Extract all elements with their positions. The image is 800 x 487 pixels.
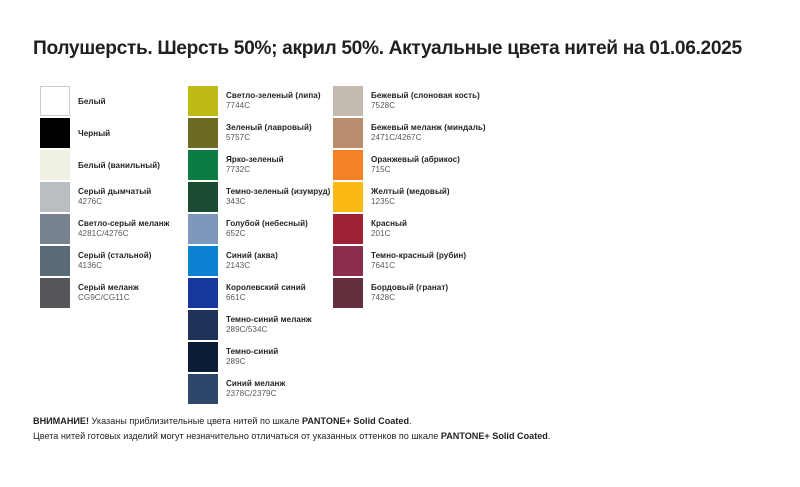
color-swatch	[188, 310, 218, 340]
color-name: Белый	[78, 96, 106, 107]
color-swatch	[40, 182, 70, 212]
swatch-labels: Оранжевый (абрикос)715C	[371, 150, 460, 180]
swatch-labels: Светло-зеленый (липа)7744C	[226, 86, 321, 116]
color-swatch	[40, 246, 70, 276]
color-name: Темно-зеленый (изумруд)	[226, 187, 330, 198]
color-name: Королевский синий	[226, 283, 306, 294]
color-name: Оранжевый (абрикос)	[371, 155, 460, 166]
color-name: Бордовый (гранат)	[371, 283, 448, 294]
swatch-labels: Серый (стальной)4136C	[78, 246, 152, 276]
color-name: Темно-красный (рубин)	[371, 251, 466, 262]
color-name: Зеленый (лавровый)	[226, 123, 312, 134]
color-name: Черный	[78, 128, 110, 139]
color-swatch	[188, 150, 218, 180]
swatch-labels: Белый	[78, 86, 106, 116]
swatch-labels: Светло-серый меланж4281C/4276C	[78, 214, 169, 244]
disclaimer-line-1-text: Указаны приблизительные цвета нитей по ш…	[89, 416, 302, 426]
swatch-labels: Синий (аква)2143C	[226, 246, 278, 276]
pantone-code: 7641C	[371, 261, 466, 272]
color-swatch	[40, 278, 70, 308]
color-swatch	[333, 150, 363, 180]
pantone-code: 289C	[226, 357, 278, 368]
swatch-labels: Темно-красный (рубин)7641C	[371, 246, 466, 276]
disclaimer-line-2-text: Цвета нитей готовых изделий могут незнач…	[33, 431, 441, 441]
pantone-scale-name-1: PANTONE+ Solid Coated	[302, 416, 409, 426]
color-swatch	[40, 150, 70, 180]
color-name: Бежевый меланж (миндаль)	[371, 123, 486, 134]
pantone-code: 715C	[371, 165, 460, 176]
pantone-code: 2471C/4267C	[371, 133, 486, 144]
pantone-code: 1235C	[371, 197, 450, 208]
color-name: Синий (аква)	[226, 251, 278, 262]
swatch-labels: Красный201C	[371, 214, 407, 244]
color-name: Синий меланж	[226, 379, 285, 390]
color-swatch	[40, 118, 70, 148]
swatch-labels: Белый (ванильный)	[78, 150, 160, 180]
pantone-code: 7428C	[371, 293, 448, 304]
swatch-labels: Темно-синий меланж289C/534C	[226, 310, 312, 340]
disclaimer-line-1: ВНИМАНИЕ! Указаны приблизительные цвета …	[33, 414, 768, 429]
color-swatch	[333, 182, 363, 212]
color-name: Бежевый (слоновая кость)	[371, 91, 480, 102]
pantone-code: 4136C	[78, 261, 152, 272]
pantone-code: 7744C	[226, 101, 321, 112]
pantone-code: 2378C/2379C	[226, 389, 285, 400]
swatch-labels: Желтый (медовый)1235C	[371, 182, 450, 212]
color-name: Голубой (небесный)	[226, 219, 308, 230]
color-swatch	[333, 214, 363, 244]
color-name: Красный	[371, 219, 407, 230]
swatch-labels: Бордовый (гранат)7428C	[371, 278, 448, 308]
color-swatch	[333, 246, 363, 276]
swatch-labels: Темно-зеленый (изумруд)343C	[226, 182, 330, 212]
pantone-scale-name-2: PANTONE+ Solid Coated	[441, 431, 548, 441]
swatch-labels: Бежевый (слоновая кость)7528C	[371, 86, 480, 116]
pantone-code: 652C	[226, 229, 308, 240]
swatch-labels: Серый дымчатый4276C	[78, 182, 151, 212]
color-swatch	[188, 278, 218, 308]
color-swatch	[333, 86, 363, 116]
pantone-code: 201C	[371, 229, 407, 240]
swatch-labels: Зеленый (лавровый)5757C	[226, 118, 312, 148]
color-chart-page: Полушерсть. Шерсть 50%; акрил 50%. Актуа…	[0, 0, 800, 487]
color-swatch	[40, 214, 70, 244]
pantone-code: 7732C	[226, 165, 284, 176]
pantone-code: 4281C/4276C	[78, 229, 169, 240]
swatch-labels: Королевский синий661C	[226, 278, 306, 308]
attention-label: ВНИМАНИЕ!	[33, 416, 89, 426]
color-name: Белый (ванильный)	[78, 160, 160, 171]
color-swatch	[188, 118, 218, 148]
pantone-code: 661C	[226, 293, 306, 304]
color-swatch	[188, 86, 218, 116]
swatch-labels: Синий меланж2378C/2379C	[226, 374, 285, 404]
pantone-code: 343C	[226, 197, 330, 208]
color-swatch	[188, 214, 218, 244]
color-swatch	[333, 278, 363, 308]
color-swatch	[188, 182, 218, 212]
color-swatch	[40, 86, 70, 116]
pantone-code: 289C/534C	[226, 325, 312, 336]
color-swatch	[188, 342, 218, 372]
disclaimer-line-2-tail: .	[548, 431, 551, 441]
pantone-code: 7528C	[371, 101, 480, 112]
swatch-labels: Бежевый меланж (миндаль)2471C/4267C	[371, 118, 486, 148]
color-name: Желтый (медовый)	[371, 187, 450, 198]
swatch-labels: Голубой (небесный)652C	[226, 214, 308, 244]
color-name: Темно-синий меланж	[226, 315, 312, 326]
color-swatch	[333, 118, 363, 148]
swatch-labels: Серый меланжCG9C/CG11C	[78, 278, 139, 308]
color-name: Серый дымчатый	[78, 187, 151, 198]
disclaimer-footer: ВНИМАНИЕ! Указаны приблизительные цвета …	[33, 414, 768, 443]
color-name: Светло-серый меланж	[78, 219, 169, 230]
disclaimer-line-1-tail: .	[409, 416, 412, 426]
color-name: Серый меланж	[78, 283, 139, 294]
color-swatch	[188, 374, 218, 404]
color-swatch	[188, 246, 218, 276]
color-name: Светло-зеленый (липа)	[226, 91, 321, 102]
color-name: Серый (стальной)	[78, 251, 152, 262]
color-name: Темно-синий	[226, 347, 278, 358]
pantone-code: 4276C	[78, 197, 151, 208]
disclaimer-line-2: Цвета нитей готовых изделий могут незнач…	[33, 429, 768, 444]
swatch-labels: Ярко-зеленый7732C	[226, 150, 284, 180]
pantone-code: 5757C	[226, 133, 312, 144]
pantone-code: CG9C/CG11C	[78, 293, 139, 304]
swatch-labels: Черный	[78, 118, 110, 148]
page-title: Полушерсть. Шерсть 50%; акрил 50%. Актуа…	[33, 38, 773, 59]
pantone-code: 2143C	[226, 261, 278, 272]
swatch-labels: Темно-синий289C	[226, 342, 278, 372]
color-name: Ярко-зеленый	[226, 155, 284, 166]
